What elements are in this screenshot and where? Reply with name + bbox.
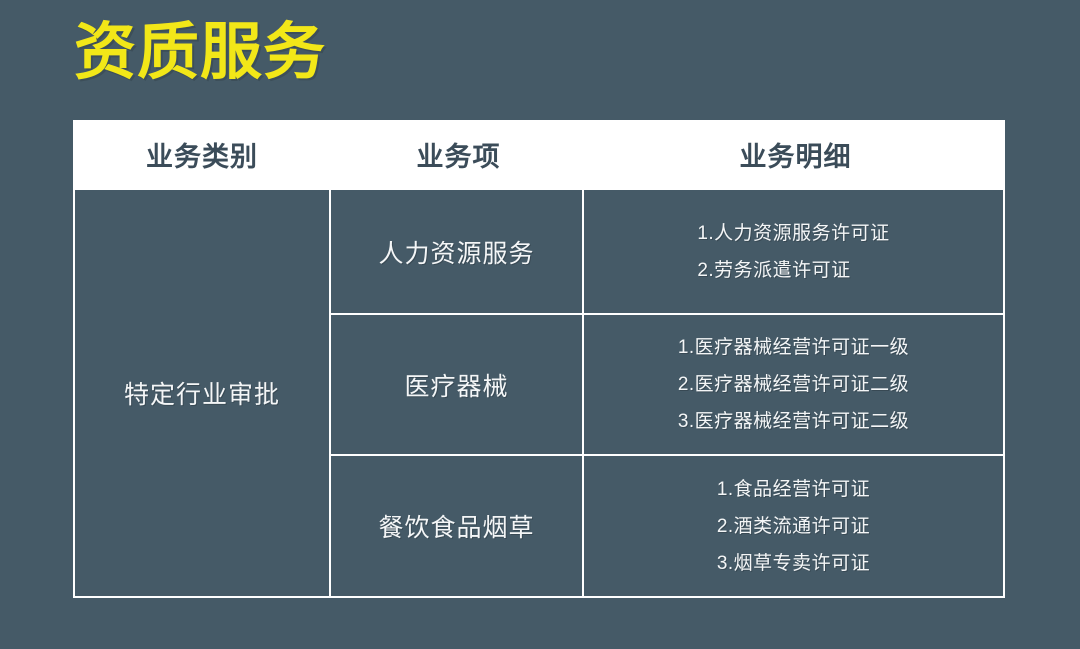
list-item: 3.烟草专卖许可证 [717, 545, 870, 582]
list-item: 1.医疗器械经营许可证一级 [678, 329, 909, 366]
column-header-detail: 业务明细 [586, 120, 1005, 188]
table-row: 餐饮食品烟草 1.食品经营许可证 2.酒类流通许可证 3.烟草专卖许可证 [331, 456, 1003, 596]
table-row: 人力资源服务 1.人力资源服务许可证 2.劳务派遣许可证 [331, 190, 1003, 315]
table-body: 特定行业审批 人力资源服务 1.人力资源服务许可证 2.劳务派遣许可证 医疗器械… [73, 188, 1005, 598]
column-header-item: 业务项 [331, 120, 586, 188]
table-rows: 人力资源服务 1.人力资源服务许可证 2.劳务派遣许可证 医疗器械 1.医疗器械… [331, 190, 1003, 596]
item-cell: 人力资源服务 [331, 190, 584, 313]
column-header-category: 业务类别 [73, 120, 331, 188]
list-item: 3.医疗器械经营许可证二级 [678, 403, 909, 440]
table-row: 医疗器械 1.医疗器械经营许可证一级 2.医疗器械经营许可证二级 3.医疗器械经… [331, 315, 1003, 456]
detail-list: 1.医疗器械经营许可证一级 2.医疗器械经营许可证二级 3.医疗器械经营许可证二… [678, 329, 909, 440]
detail-cell: 1.医疗器械经营许可证一级 2.医疗器械经营许可证二级 3.医疗器械经营许可证二… [584, 315, 1003, 454]
category-cell: 特定行业审批 [75, 190, 331, 596]
detail-cell: 1.食品经营许可证 2.酒类流通许可证 3.烟草专卖许可证 [584, 456, 1003, 596]
list-item: 2.酒类流通许可证 [717, 508, 870, 545]
item-cell: 医疗器械 [331, 315, 584, 454]
table-header-row: 业务类别 业务项 业务明细 [73, 120, 1005, 188]
list-item: 2.医疗器械经营许可证二级 [678, 366, 909, 403]
detail-list: 1.人力资源服务许可证 2.劳务派遣许可证 [697, 215, 889, 289]
item-cell: 餐饮食品烟草 [331, 456, 584, 596]
page-title: 资质服务 [74, 14, 326, 92]
qualification-services-table: 业务类别 业务项 业务明细 特定行业审批 人力资源服务 1.人力资源服务许可证 … [73, 120, 1005, 598]
list-item: 1.人力资源服务许可证 [697, 215, 889, 252]
list-item: 2.劳务派遣许可证 [697, 252, 889, 289]
detail-cell: 1.人力资源服务许可证 2.劳务派遣许可证 [584, 190, 1003, 313]
detail-list: 1.食品经营许可证 2.酒类流通许可证 3.烟草专卖许可证 [717, 471, 870, 582]
list-item: 1.食品经营许可证 [717, 471, 870, 508]
